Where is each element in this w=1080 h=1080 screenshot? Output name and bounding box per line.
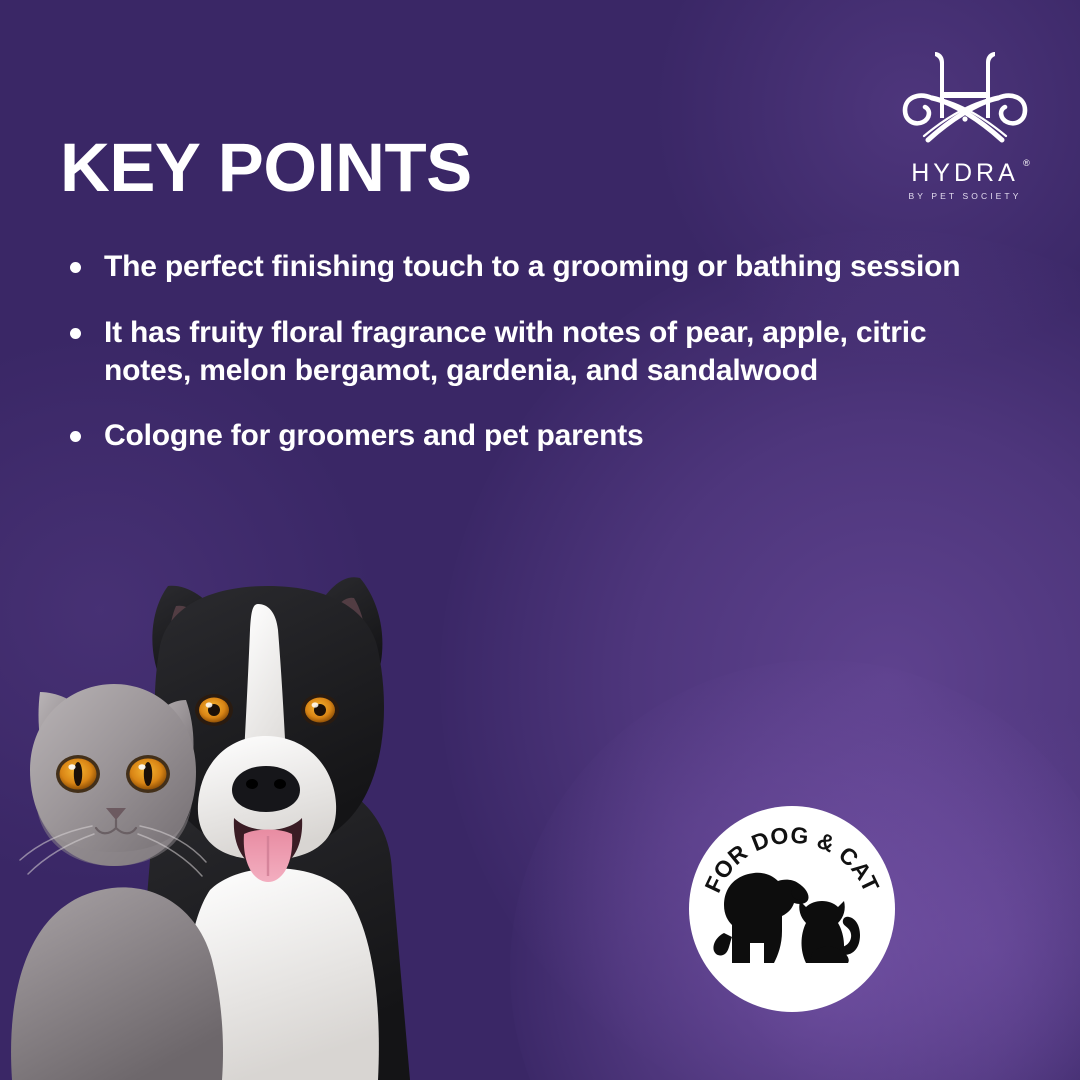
- bullet-dot-icon: [70, 431, 81, 442]
- brand-logo: HYDRA® BY PET SOCIETY: [895, 40, 1035, 201]
- page-title: KEY POINTS: [60, 133, 472, 202]
- logo-wordmark: HYDRA®: [911, 161, 1019, 186]
- list-item: The perfect finishing touch to a groomin…: [62, 248, 1002, 286]
- list-item-text: The perfect finishing touch to a groomin…: [104, 250, 960, 283]
- bullet-dot-icon: [70, 262, 81, 273]
- list-item: Cologne for groomers and pet parents: [62, 417, 1002, 455]
- logo-wordmark-text: HYDRA: [911, 159, 1019, 187]
- for-dog-and-cat-badge: FOR DOG & CAT: [688, 805, 896, 1013]
- hydra-h-scissors-monogram-icon: [895, 40, 1035, 155]
- list-item: It has fruity floral fragrance with note…: [62, 314, 1002, 390]
- promo-card: HYDRA® BY PET SOCIETY KEY POINTS The per…: [0, 0, 1080, 1080]
- logo-tagline: BY PET SOCIETY: [895, 191, 1035, 201]
- bullet-dot-icon: [70, 328, 81, 339]
- pet-photo: [0, 560, 560, 1080]
- list-item-text: Cologne for groomers and pet parents: [104, 419, 644, 452]
- list-item-text: It has fruity floral fragrance with note…: [104, 316, 926, 387]
- registered-trademark-icon: ®: [1023, 159, 1030, 168]
- key-points-list: The perfect finishing touch to a groomin…: [62, 248, 1002, 455]
